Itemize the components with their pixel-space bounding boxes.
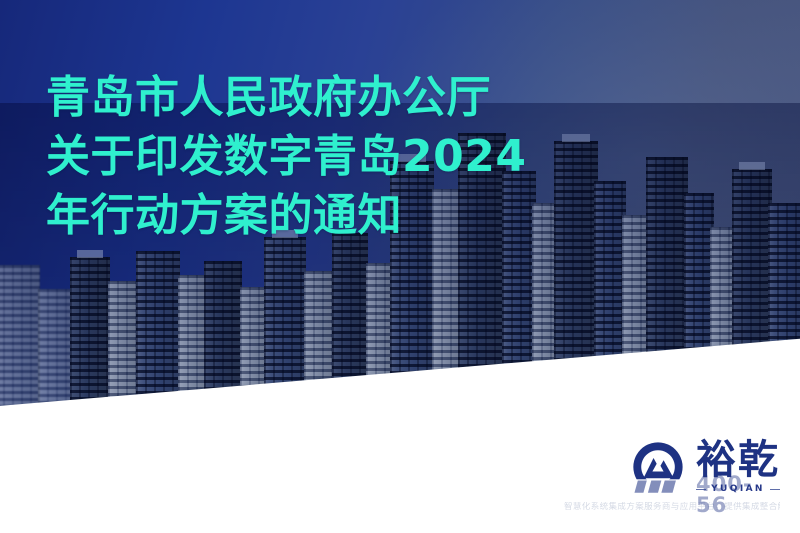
logo-wordmark: 裕乾 400-56 YUQIAN [696,440,780,494]
logo-chinese-name: 裕乾 [696,440,780,480]
logo-rule-right [770,489,780,490]
logo-tagline: 智慧化系统集成方案服务商与应用平台，提供集成整合解决方案 [564,502,780,513]
brand-logo: 裕乾 400-56 YUQIAN 智慧化系统集成方案服务商与应用平台，提供集成整… [554,439,780,513]
mountain-arc-emblem-icon [630,439,686,495]
logo-row: 裕乾 400-56 YUQIAN [630,439,780,495]
logo-rule-left [696,489,706,490]
page-title: 青岛市人民政府办公厅 关于印发数字青岛2024 年行动方案的通知 [46,68,646,245]
logo-pinyin-row: YUQIAN [696,485,780,494]
logo-pinyin: YUQIAN [711,485,765,494]
poster-image: 青岛市人民政府办公厅 关于印发数字青岛2024 年行动方案的通知 裕乾 400-… [0,0,800,533]
